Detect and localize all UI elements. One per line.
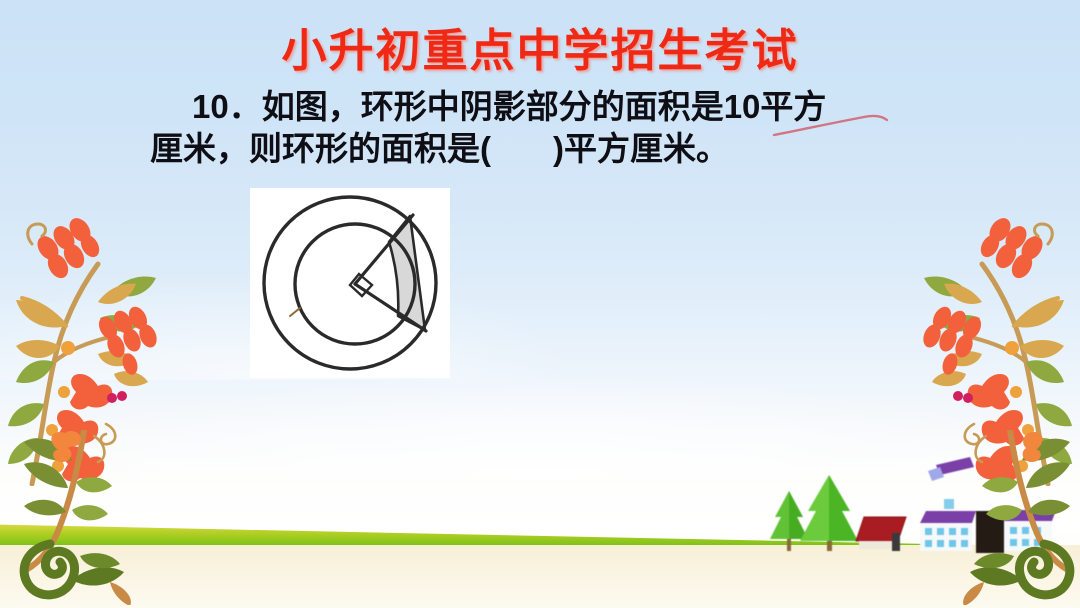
question-line-1: 10．如图，环形中阴影部分的面积是10平方 — [150, 86, 940, 128]
tree-small — [770, 491, 808, 551]
floral-ornament-left — [2, 186, 182, 486]
purple-banner — [928, 457, 974, 481]
page-title: 小升初重点中学招生考试 — [0, 14, 1080, 79]
flower-cluster-mid — [95, 304, 160, 377]
cloud-haze-lower — [0, 330, 1080, 480]
tree-large — [800, 475, 858, 551]
annulus-diagram — [250, 188, 450, 378]
flower-cluster-bottom — [56, 374, 112, 481]
figure-container — [250, 188, 450, 378]
question-line-2-suffix: )平方厘米。 — [553, 130, 729, 167]
house-purple-roof-a — [920, 499, 976, 551]
question-line-2-prefix: 厘米，则环形的面积是( — [150, 130, 491, 167]
ground-sand-band — [0, 545, 1080, 608]
slide-canvas: 小升初重点中学招生考试 10．如图，环形中阴影部分的面积是10平方 厘米，则环形… — [0, 0, 1080, 608]
flower-cluster-top — [33, 214, 103, 282]
floral-ornament-right — [898, 186, 1078, 486]
cloud-haze-upper — [0, 250, 1080, 380]
berries — [107, 391, 127, 403]
question-block: 10．如图，环形中阴影部分的面积是10平方 厘米，则环形的面积是()平方厘米。 — [150, 86, 940, 170]
floral-stem-group — [8, 214, 160, 484]
question-line-2: 厘米，则环形的面积是()平方厘米。 — [150, 128, 940, 170]
